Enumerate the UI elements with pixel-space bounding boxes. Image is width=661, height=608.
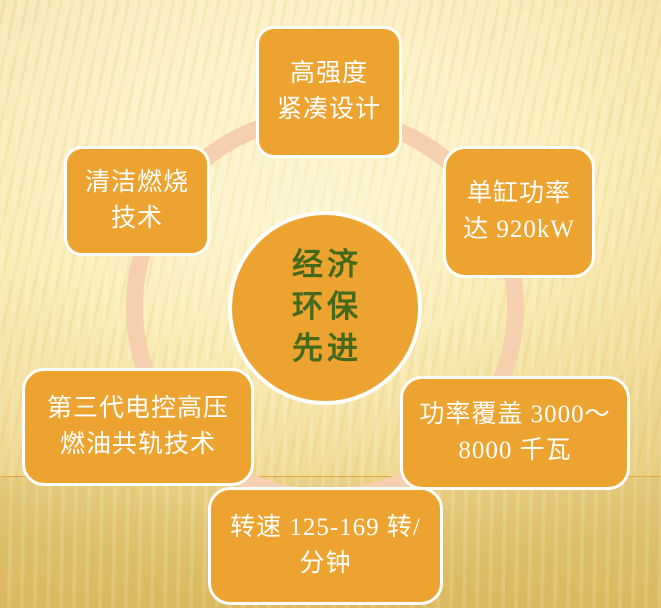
node-botleft-label: 第三代电控高压 燃油共轨技术	[39, 391, 237, 464]
node-botright-label: 功率覆盖 3000～ 8000 千瓦	[411, 397, 618, 470]
node-third-gen-common-rail[interactable]: 第三代电控高压 燃油共轨技术	[22, 368, 254, 486]
node-bottom-label: 转速 125-169 转/ 分钟	[222, 510, 429, 583]
node-clean-combustion-technology[interactable]: 清洁燃烧 技术	[64, 146, 210, 256]
node-rotation-speed-range[interactable]: 转速 125-169 转/ 分钟	[208, 487, 443, 605]
node-top-label: 高强度 紧凑设计	[269, 56, 389, 129]
node-single-cylinder-power[interactable]: 单缸功率 达 920kW	[443, 146, 595, 278]
center-hub-line-3: 先进	[288, 330, 362, 370]
center-hub-line-2: 环保	[288, 288, 362, 328]
infographic-canvas: 经济 环保 先进 高强度 紧凑设计 清洁燃烧 技术 单缸功率 达 920kW 第…	[0, 0, 661, 608]
center-hub[interactable]: 经济 环保 先进	[228, 211, 422, 405]
center-hub-line-1: 经济	[288, 246, 362, 286]
node-high-strength-compact-design[interactable]: 高强度 紧凑设计	[256, 26, 402, 158]
node-right-label: 单缸功率 达 920kW	[455, 176, 583, 249]
node-left-label: 清洁燃烧 技术	[77, 165, 197, 238]
node-power-coverage-range[interactable]: 功率覆盖 3000～ 8000 千瓦	[400, 376, 630, 490]
